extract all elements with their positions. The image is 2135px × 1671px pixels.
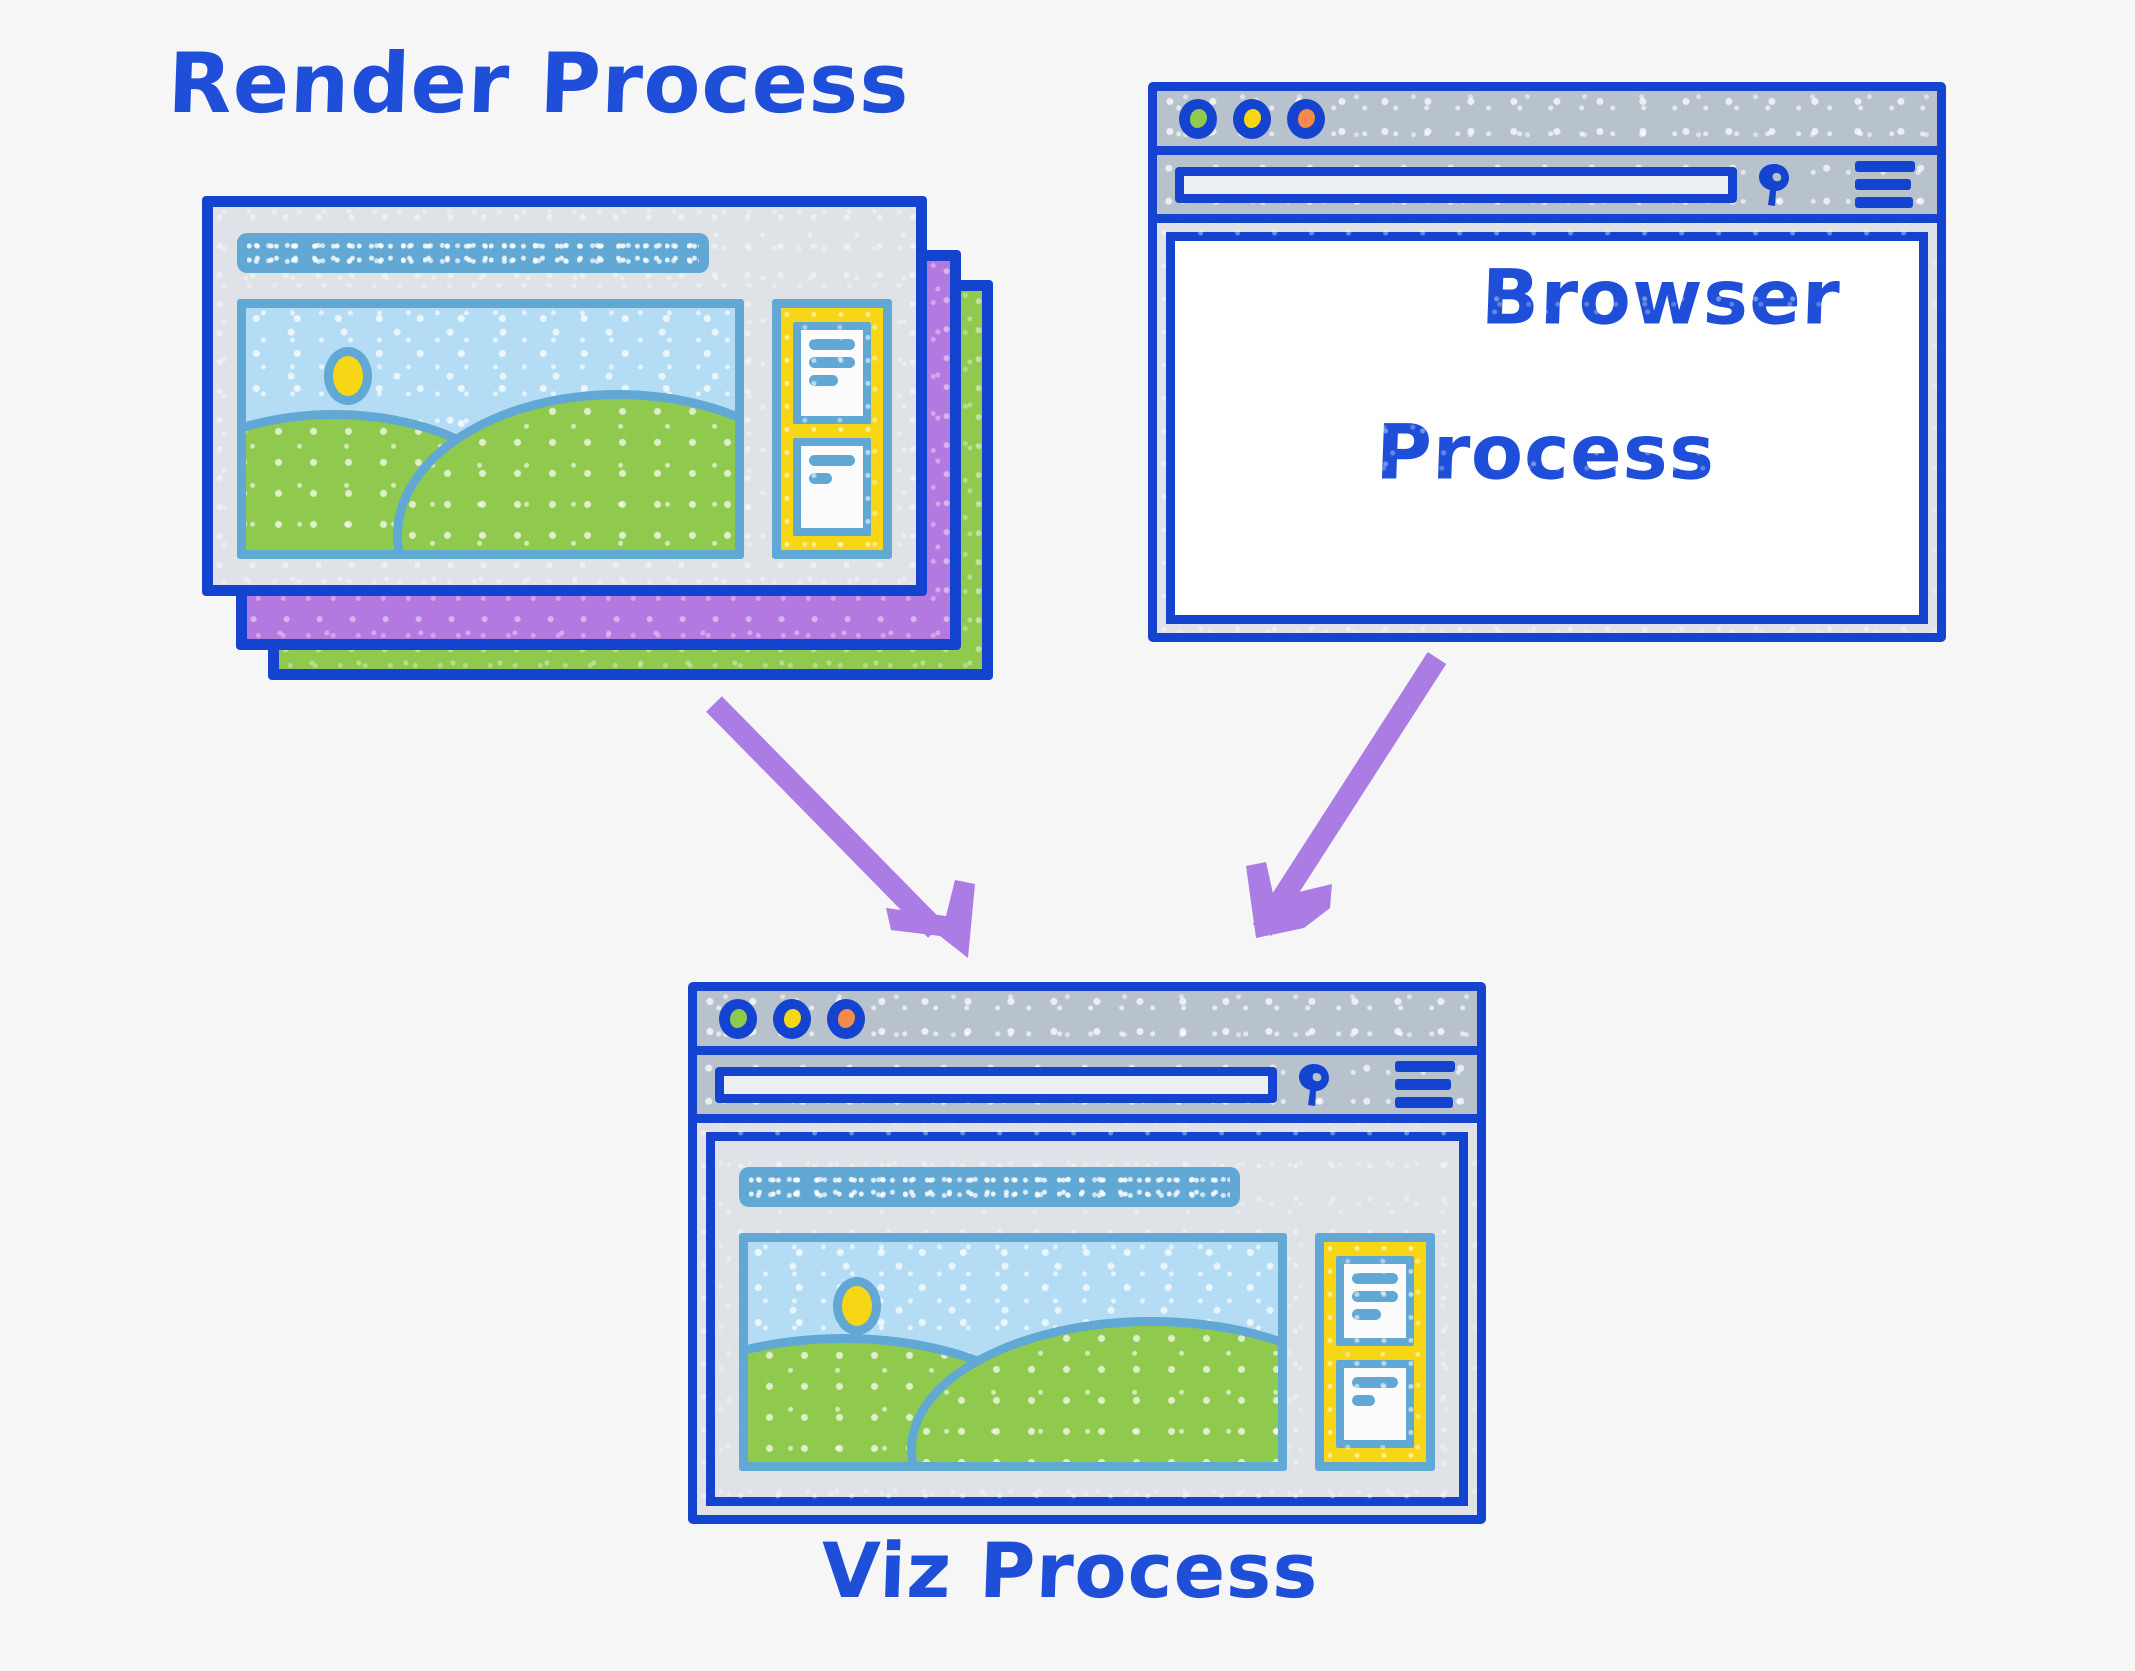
viz-process-window bbox=[688, 982, 1486, 1524]
viz-page-mock bbox=[715, 1141, 1459, 1497]
page-header-bar bbox=[237, 233, 709, 273]
note-card-bottom bbox=[793, 438, 871, 536]
sun-icon bbox=[833, 1277, 881, 1335]
traffic-light-green-icon[interactable] bbox=[719, 999, 757, 1039]
browser-process-label-line2: Process bbox=[1172, 413, 1919, 491]
browser-process-label-line1: Browser bbox=[1480, 252, 1842, 341]
note-card-bottom bbox=[1336, 1360, 1414, 1448]
render-page-mock bbox=[213, 207, 916, 585]
image-placeholder bbox=[739, 1233, 1287, 1471]
viz-process-viewport bbox=[706, 1132, 1468, 1506]
traffic-light-orange-icon[interactable] bbox=[1287, 99, 1325, 139]
toolbar bbox=[697, 1055, 1477, 1123]
text-line bbox=[1352, 1377, 1398, 1388]
traffic-light-yellow-icon[interactable] bbox=[773, 999, 811, 1039]
magnifier-icon[interactable] bbox=[1757, 163, 1791, 207]
text-line bbox=[809, 357, 855, 368]
text-line bbox=[1352, 1273, 1398, 1284]
render-card-front bbox=[202, 196, 927, 596]
text-line bbox=[809, 339, 855, 350]
magnifier-icon[interactable] bbox=[1297, 1063, 1331, 1107]
traffic-light-yellow-icon[interactable] bbox=[1233, 99, 1271, 139]
sun-icon bbox=[324, 347, 372, 405]
titlebar bbox=[697, 991, 1477, 1055]
viz-chrome bbox=[697, 991, 1477, 1123]
hamburger-menu-icon[interactable] bbox=[1395, 1061, 1455, 1108]
traffic-light-green-icon[interactable] bbox=[1179, 99, 1217, 139]
traffic-light-orange-icon[interactable] bbox=[827, 999, 865, 1039]
image-placeholder bbox=[237, 299, 744, 559]
toolbar bbox=[1157, 155, 1937, 223]
page-body bbox=[237, 299, 892, 559]
text-line bbox=[809, 455, 855, 466]
browser-process-window: Browser Process bbox=[1148, 82, 1946, 642]
note-card-top bbox=[1336, 1256, 1414, 1346]
text-line bbox=[1352, 1291, 1398, 1302]
browser-chrome bbox=[1157, 91, 1937, 223]
render-process-label: Render Process bbox=[167, 42, 912, 127]
browser-process-viewport: Browser Process bbox=[1166, 232, 1928, 624]
url-input[interactable] bbox=[1175, 167, 1737, 203]
hamburger-menu-icon[interactable] bbox=[1855, 161, 1915, 208]
text-line bbox=[809, 473, 832, 484]
arrow-browser-to-viz bbox=[1246, 658, 1437, 938]
titlebar bbox=[1157, 91, 1937, 155]
viz-process-label: Viz Process bbox=[809, 1532, 1332, 1610]
yellow-sidebar bbox=[772, 299, 892, 559]
url-input[interactable] bbox=[715, 1067, 1277, 1103]
text-line bbox=[809, 375, 838, 386]
diagram-canvas: Render Process bbox=[0, 0, 2135, 1671]
page-header-bar bbox=[739, 1167, 1240, 1207]
yellow-sidebar bbox=[1315, 1233, 1435, 1471]
text-line bbox=[1352, 1309, 1381, 1320]
text-line bbox=[1352, 1395, 1375, 1406]
arrow-render-to-viz bbox=[714, 704, 975, 958]
browser-process-label: Browser Process bbox=[1167, 180, 1927, 645]
note-card-top bbox=[793, 322, 871, 424]
page-body bbox=[739, 1233, 1435, 1471]
